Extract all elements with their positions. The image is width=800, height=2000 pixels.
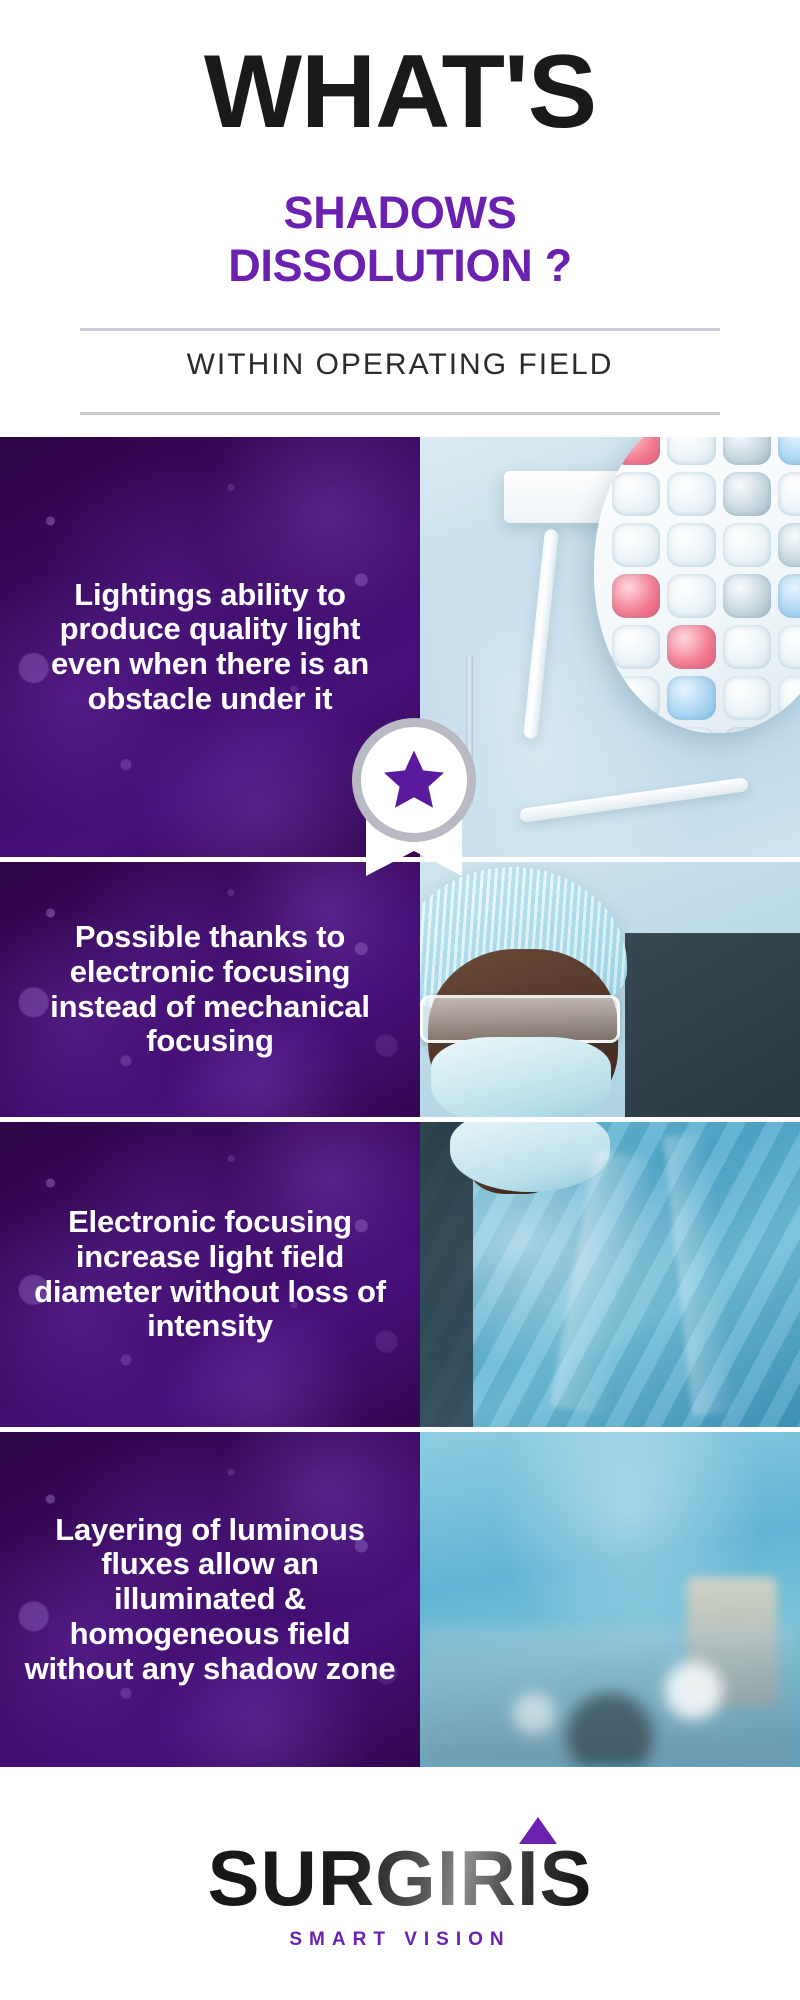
page-title: WHAT'S [0,38,800,147]
gown-fold [550,1149,654,1415]
led-cell [612,437,660,465]
footer: SURGIRIS SMART VISION [0,1790,800,2000]
content-row-4: Layering of luminous fluxes allow an ill… [0,1432,800,1767]
led-cell [723,727,771,733]
led-cell [778,676,800,720]
led-cell [612,676,660,720]
led-cell [723,676,771,720]
led-cell [778,437,800,465]
content-row-2: Possible thanks to electronic focusing i… [0,862,800,1117]
led-cell [612,625,660,669]
light-support-neck [523,529,559,739]
content-row-3: Electronic focusing increase light field… [0,1122,800,1427]
triangle-icon [519,1817,557,1844]
logo-wordmark: SURGIRIS [207,1839,592,1917]
led-cell [667,727,715,733]
photo-surgical-light [420,437,800,857]
led-cell [723,574,771,618]
photo-surgical-gown [420,1122,800,1427]
divider-bottom [80,412,720,415]
light-head [594,437,800,733]
brand-logo: SURGIRIS [207,1839,592,1917]
text-panel-4: Layering of luminous fluxes allow an ill… [0,1432,420,1767]
led-cell [667,574,715,618]
safety-goggles [420,995,620,1043]
badge-circle [352,718,476,842]
led-cell [612,472,660,516]
brand-tagline: SMART VISION [289,1929,510,1951]
gown-fold [664,1133,739,1416]
light-handle-bar [519,777,749,823]
infographic-page: WHAT'S SHADOWS DISSOLUTION ? WITHIN OPER… [0,0,800,2000]
panel-text-2: Possible thanks to electronic focusing i… [0,920,420,1059]
led-cell [667,472,715,516]
content-rows: Lightings ability to produce quality lig… [0,437,800,1790]
led-cell [667,523,715,567]
photo-blurred-instruments [420,1432,800,1767]
subtitle-line-1: SHADOWS [0,186,800,239]
led-cell [612,574,660,618]
led-cell [723,523,771,567]
page-subtitle: SHADOWS DISSOLUTION ? [0,186,800,292]
panel-text-1: Lightings ability to produce quality lig… [0,578,420,717]
led-cell [723,437,771,465]
led-cell [778,625,800,669]
instrument-tray-blur [420,1626,800,1767]
star-icon [380,746,448,814]
header-note: WITHIN OPERATING FIELD [0,348,800,382]
text-panel-3: Electronic focusing increase light field… [0,1122,420,1427]
panel-text-3: Electronic focusing increase light field… [0,1205,420,1344]
led-cell [778,472,800,516]
header: WHAT'S SHADOWS DISSOLUTION ? WITHIN OPER… [0,0,800,437]
led-cell [778,574,800,618]
led-cell [667,437,715,465]
led-cell [778,523,800,567]
led-cell [723,472,771,516]
led-cell [612,523,660,567]
photo-surgeon-portrait [420,862,800,1117]
led-array [606,437,800,721]
text-panel-2: Possible thanks to electronic focusing i… [0,862,420,1117]
panel-text-4: Layering of luminous fluxes allow an ill… [0,1513,420,1687]
led-cell [778,727,800,733]
background-monitor [625,933,800,1117]
surgical-mask [431,1037,611,1117]
star-ribbon-badge [352,718,476,878]
divider-top [80,328,720,331]
led-cell [723,625,771,669]
subtitle-line-2: DISSOLUTION ? [0,239,800,292]
led-cell [667,676,715,720]
led-cell [612,727,660,733]
led-cell [667,625,715,669]
